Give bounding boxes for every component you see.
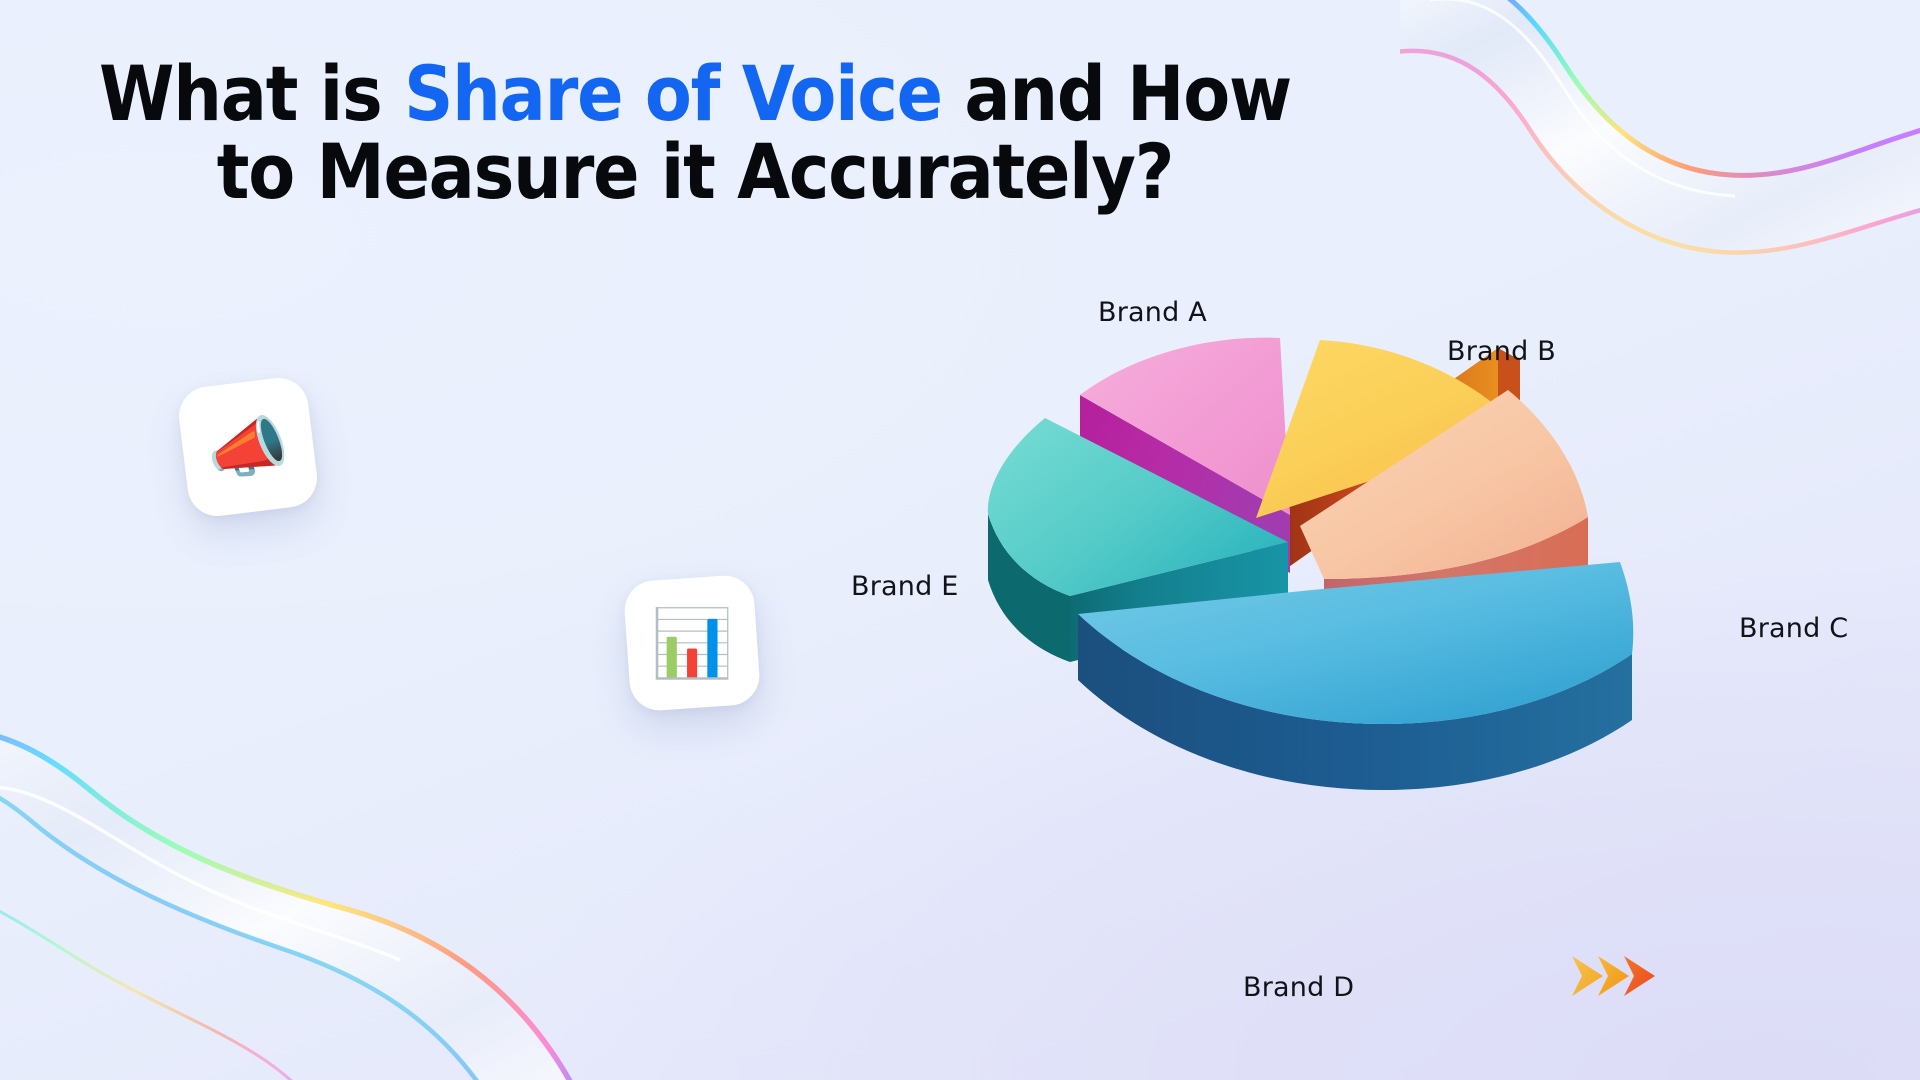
page-title: What is Share of Voice and How to Measur… xyxy=(0,55,1390,212)
megaphone-tile[interactable]: 📣 xyxy=(176,375,321,520)
title-pre: What is xyxy=(99,49,404,138)
pie-label-brand-b: Brand B xyxy=(1447,336,1556,367)
title-highlight: Share of Voice xyxy=(404,49,942,138)
bar-chart-icon: 📊 xyxy=(651,610,733,676)
bar-chart-tile[interactable]: 📊 xyxy=(623,574,762,713)
pie-label-brand-a: Brand A xyxy=(1098,297,1207,328)
title-line-2: to Measure it Accurately? xyxy=(0,133,1390,211)
megaphone-icon: 📣 xyxy=(207,414,289,480)
pie-label-brand-c: Brand C xyxy=(1739,613,1848,644)
pie-label-brand-e: Brand E xyxy=(851,571,958,602)
glass-ribbon-bottom-left-icon xyxy=(0,630,700,1080)
share-of-voice-pie-chart[interactable] xyxy=(960,290,1720,910)
glass-ribbon-top-right-icon xyxy=(1400,0,1920,260)
chevron-arrows-icon xyxy=(1570,952,1690,1000)
poster-canvas: What is Share of Voice and How to Measur… xyxy=(0,0,1920,1080)
title-line-1: What is Share of Voice and How xyxy=(0,55,1390,133)
title-post: and How xyxy=(942,49,1291,138)
pie-label-brand-d: Brand D xyxy=(1243,972,1354,1003)
